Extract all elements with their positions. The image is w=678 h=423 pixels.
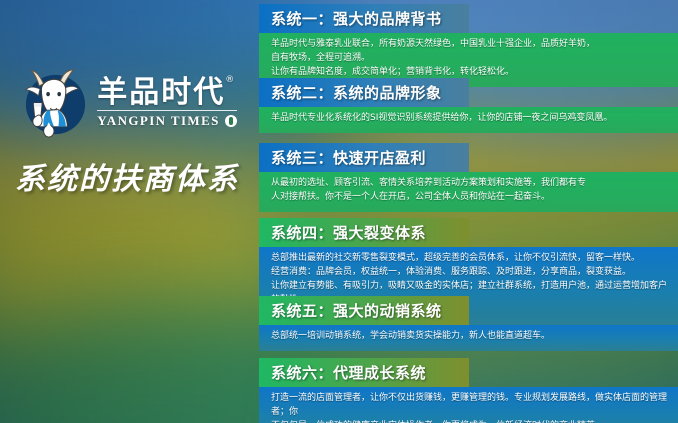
system-title-2: 系统二：系统的品牌形象 xyxy=(259,78,469,107)
system-block-6: 系统六：代理成长系统 打造一流的店面管理者，让你不仅出货赚钱，更赚管理的钱。专业… xyxy=(259,358,678,423)
wordmark: 羊品时代 ® YANGPIN TIMES xyxy=(97,77,237,130)
system-body-line: 人对接帮扶。你不是一个人在开店，公司全体人员和你站在一起奋斗。 xyxy=(271,191,668,205)
system-block-5: 系统五：强大的动销系统 总部统一培训动销系统，学会动销卖货实操能力，新人也能直道… xyxy=(259,296,678,351)
systems-list: 系统一：强大的品牌背书 羊品时代与雅泰乳业联合，所有奶源天然绿色，中国乳业十强企… xyxy=(259,0,678,423)
system-body-line: 羊品时代与雅泰乳业联合，所有奶源天然绿色，中国乳业十强企业，品质好羊奶， xyxy=(271,38,668,52)
brand-name-en: YANGPIN TIMES xyxy=(97,113,237,129)
milk-bottle-badge-icon xyxy=(225,115,237,127)
system-title-4: 系统四：强大裂变体系 xyxy=(259,218,469,247)
logo-lockup: 羊品时代 ® YANGPIN TIMES xyxy=(17,66,237,140)
system-title-3: 系统三：快速开店盈利 xyxy=(259,143,469,172)
system-block-3: 系统三：快速开店盈利 从最初的选址、顾客引流、客情关系培养到活动方案策划和实施等… xyxy=(259,143,678,212)
slide-canvas: 羊品时代 ® YANGPIN TIMES 系统的扶商体系 系统一：强大的品牌背书… xyxy=(0,0,678,423)
system-body-5: 总部统一培训动销系统，学会动销卖货实操能力，新人也能直道超车。 xyxy=(259,325,678,351)
brand-name-cn: 羊品时代 ® xyxy=(97,77,225,109)
system-title-6: 系统六：代理成长系统 xyxy=(259,358,469,387)
system-body-line: 经营消费：品牌会员，权益统一，体验消费、服务跟踪、及时跟进，分享商品，裂变获益。 xyxy=(271,266,668,280)
goat-head-with-milk-glass-icon xyxy=(17,66,91,140)
system-body-line: 打造一流的店面管理者，让你不仅出货赚钱，更赚管理的钱。专业规划发展路线，做实体店… xyxy=(271,392,668,420)
brand-panel: 羊品时代 ® YANGPIN TIMES 系统的扶商体系 xyxy=(0,66,254,198)
system-body-line: 总部统一培训动销系统，学会动销卖货实操能力，新人也能直道超车。 xyxy=(271,330,668,344)
system-body-3: 从最初的选址、顾客引流、客情关系培养到活动方案策划和实施等，我们都有专 人对接帮… xyxy=(259,172,678,212)
system-body-2: 羊品时代专业化系统化的SI视觉识别系统提供给你，让你的店铺一夜之间乌鸡变凤凰。 xyxy=(259,107,678,133)
page-title: 系统的扶商体系 xyxy=(15,154,239,198)
system-block-1: 系统一：强大的品牌背书 羊品时代与雅泰乳业联合，所有奶源天然绿色，中国乳业十强企… xyxy=(259,4,678,87)
system-body-line: 自有牧场，全程可追溯。 xyxy=(271,52,668,66)
wordmark-divider xyxy=(97,110,237,111)
system-body-line: 从最初的选址、顾客引流、客情关系培养到活动方案策划和实施等，我们都有专 xyxy=(271,177,668,191)
brand-name-en-text: YANGPIN TIMES xyxy=(97,113,220,129)
system-title-1: 系统一：强大的品牌背书 xyxy=(259,4,469,33)
system-body-line: 羊品时代专业化系统化的SI视觉识别系统提供给你，让你的店铺一夜之间乌鸡变凤凰。 xyxy=(271,112,668,126)
system-block-2: 系统二：系统的品牌形象 羊品时代专业化系统化的SI视觉识别系统提供给你，让你的店… xyxy=(259,78,678,133)
brand-name-cn-text: 羊品时代 xyxy=(97,75,225,110)
system-body-line: 总部推出最新的社交新零售裂变模式，超级完善的会员体系，让你不仅引流快，留客一样快… xyxy=(271,252,668,266)
system-title-5: 系统五：强大的动销系统 xyxy=(259,296,469,325)
system-body-6: 打造一流的店面管理者，让你不仅出货赚钱，更赚管理的钱。专业规划发展路线，做实体店… xyxy=(259,387,678,423)
registered-trademark-icon: ® xyxy=(225,76,234,85)
